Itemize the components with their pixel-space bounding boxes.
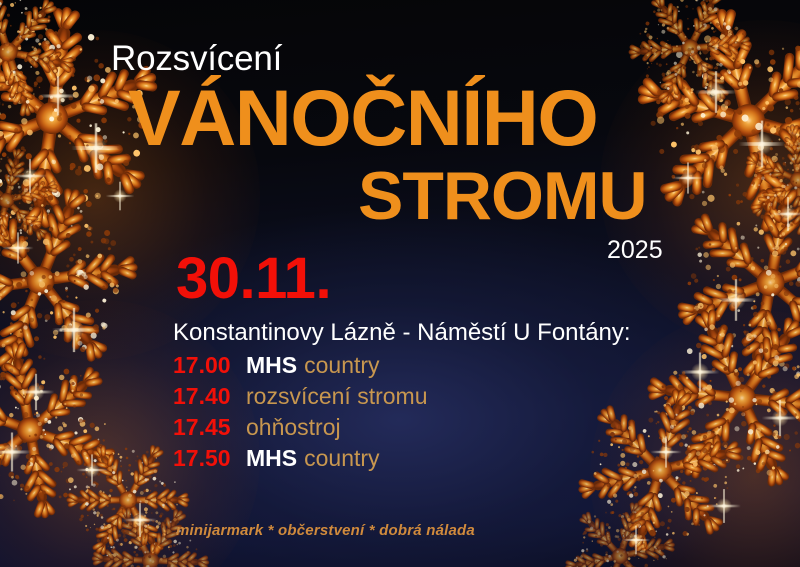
poster-footer-note: minijarmark * občerstvení * dobrá nálada [176,523,475,538]
poster-title-line-1: VÁNOČNÍHO [128,78,597,157]
schedule-time: 17.00 [173,352,239,379]
schedule-row: 17.00MHScountry [173,352,633,383]
schedule-row: 17.45ohňostroj [173,414,633,445]
christmas-tree-lighting-poster: Rozsvícení VÁNOČNÍHO STROMU 2025 30.11. … [0,0,800,567]
event-schedule: 17.00MHScountry17.40rozsvícení stromu17.… [173,352,633,476]
schedule-time: 17.45 [173,414,239,441]
event-venue: Konstantinovy Lázně - Náměstí U Fontány: [173,321,631,345]
schedule-description: country [304,445,379,472]
poster-title-line-2: STROMU [358,162,647,230]
schedule-time: 17.50 [173,445,239,472]
schedule-performer-tag: MHS [246,352,297,379]
poster-kicker: Rozsvícení [111,41,282,76]
schedule-description: country [304,352,379,379]
schedule-description: ohňostroj [246,414,341,441]
schedule-description: rozsvícení stromu [246,383,428,410]
schedule-performer-tag: MHS [246,445,297,472]
schedule-row: 17.40rozsvícení stromu [173,383,633,414]
poster-year: 2025 [607,238,663,263]
schedule-row: 17.50MHScountry [173,445,633,476]
event-date: 30.11. [176,250,331,308]
poster-content: Rozsvícení VÁNOČNÍHO STROMU 2025 30.11. … [0,0,800,567]
schedule-time: 17.40 [173,383,239,410]
